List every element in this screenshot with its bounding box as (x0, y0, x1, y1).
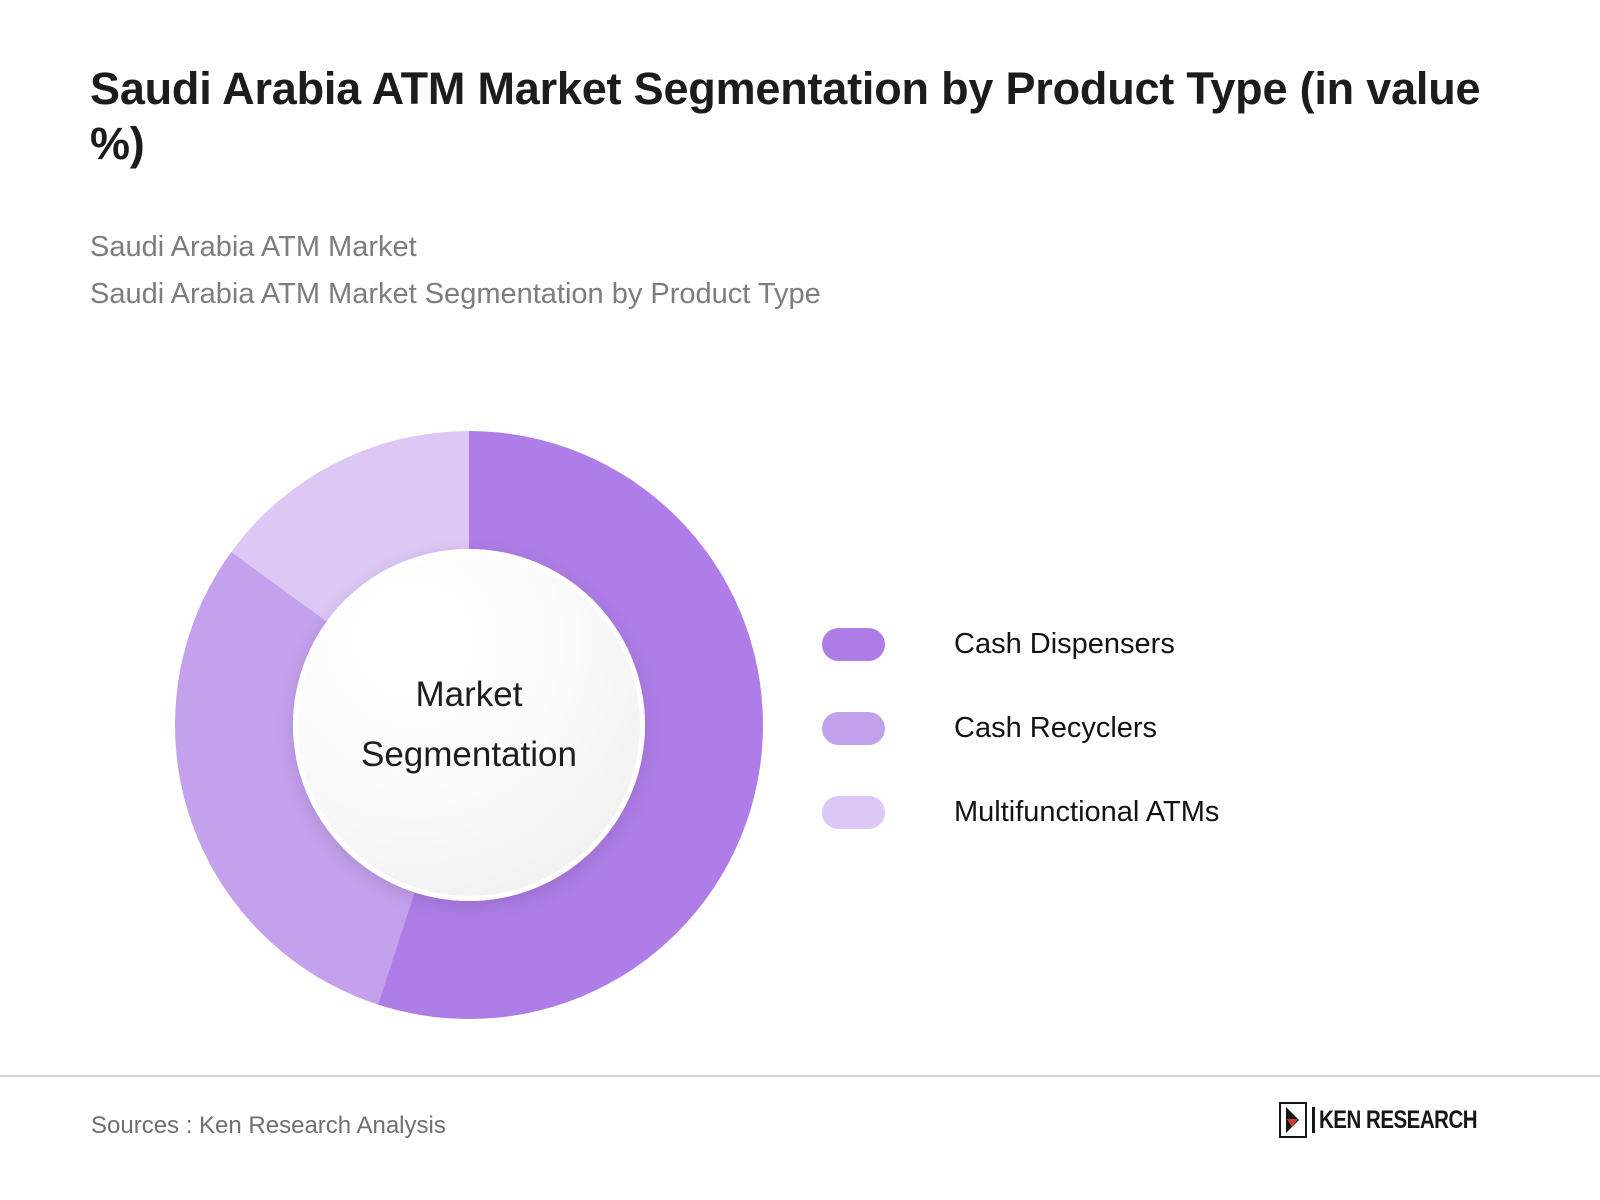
slide-root: Saudi Arabia ATM Market Segmentation by … (0, 0, 1600, 1200)
ken-research-k-mark-icon (1279, 1102, 1307, 1138)
donut-center-line-1: Market (416, 665, 523, 725)
legend-swatch (822, 796, 885, 829)
legend-label: Cash Recyclers (954, 712, 1157, 745)
donut-center-label: Market Segmentation (293, 549, 645, 901)
donut-chart[interactable]: Market Segmentation (175, 431, 763, 1019)
subtitle-line-2: Saudi Arabia ATM Market Segmentation by … (90, 271, 1510, 318)
legend-label: Cash Dispensers (954, 628, 1175, 661)
subtitle-block: Saudi Arabia ATM Market Saudi Arabia ATM… (90, 224, 1510, 318)
page-title: Saudi Arabia ATM Market Segmentation by … (90, 62, 1490, 172)
sources-note: Sources : Ken Research Analysis (91, 1112, 446, 1140)
brand-name: KEN RESEARCH (1319, 1106, 1477, 1135)
legend-item[interactable]: Cash Dispensers (822, 602, 1382, 686)
legend-label: Multifunctional ATMs (954, 796, 1219, 829)
subtitle-line-1: Saudi Arabia ATM Market (90, 224, 1510, 271)
donut-center-line-2: Segmentation (361, 725, 577, 785)
legend-item[interactable]: Cash Recyclers (822, 686, 1382, 770)
legend-swatch (822, 628, 885, 661)
legend-swatch (822, 712, 885, 745)
legend-item[interactable]: Multifunctional ATMs (822, 770, 1382, 854)
chart-legend: Cash DispensersCash RecyclersMultifuncti… (822, 602, 1382, 854)
brand-separator (1312, 1107, 1315, 1133)
footer: Sources : Ken Research Analysis KEN RESE… (0, 1075, 1600, 1200)
brand-logo: KEN RESEARCH (1279, 1102, 1512, 1138)
chart-area: Market Segmentation Cash DispensersCash … (0, 380, 1600, 1060)
header: Saudi Arabia ATM Market Segmentation by … (90, 62, 1510, 318)
